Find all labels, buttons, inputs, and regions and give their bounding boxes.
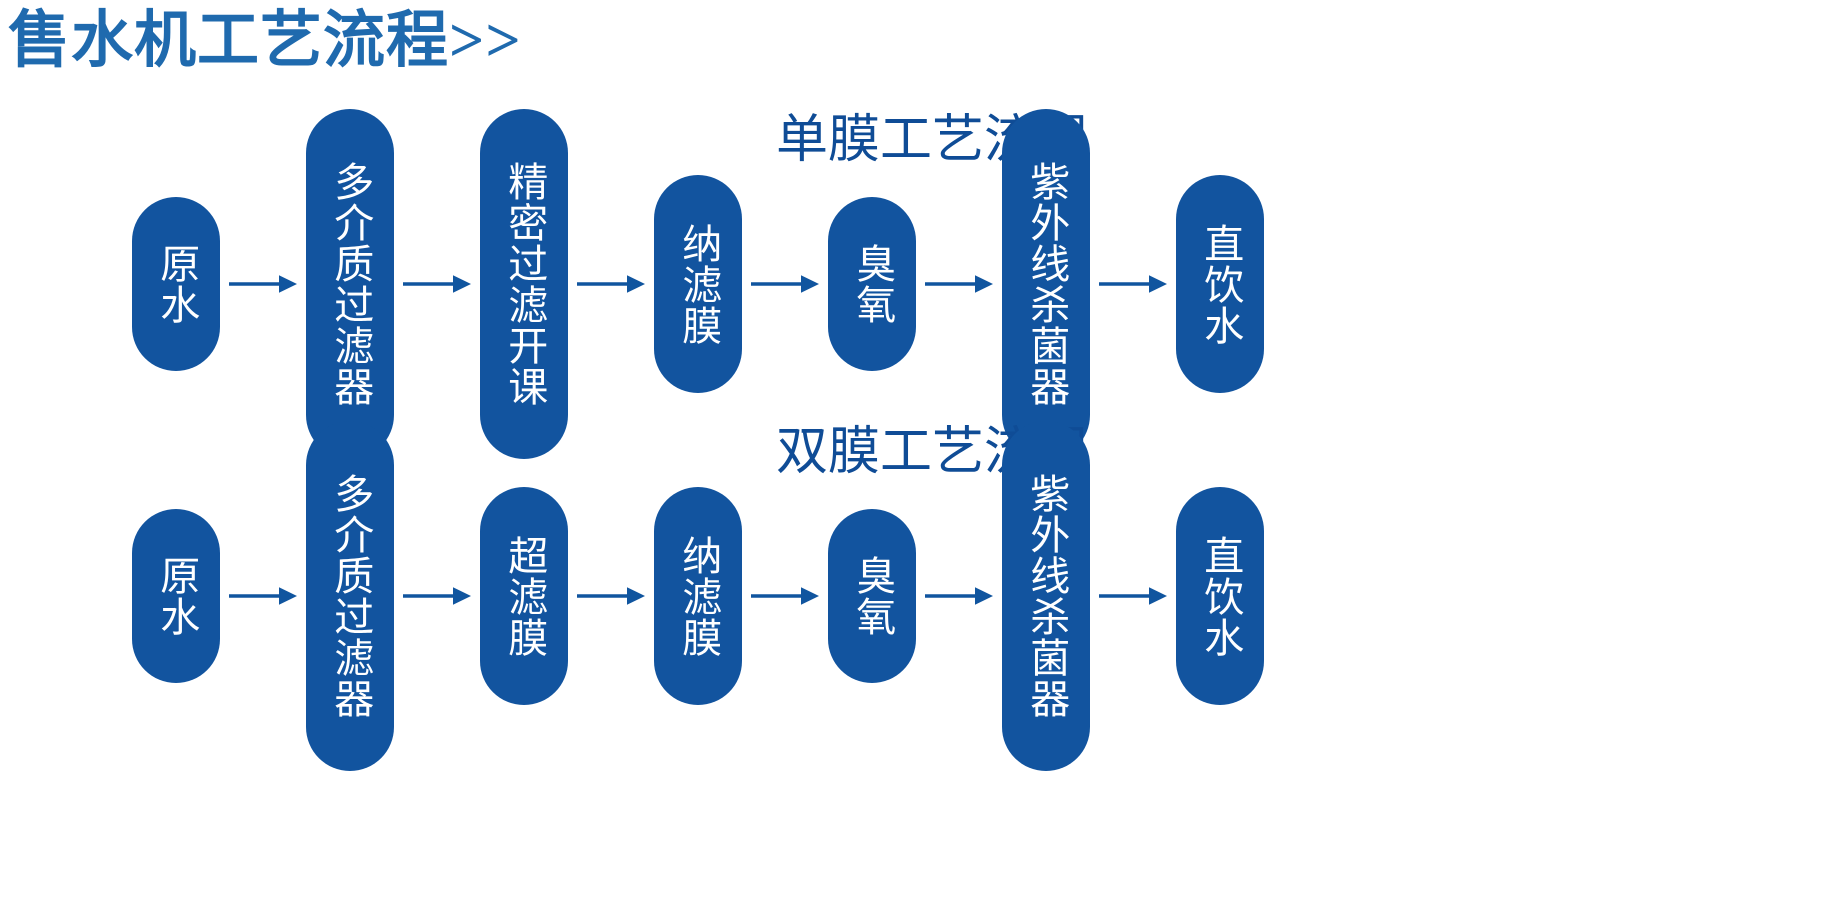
process-step-pill[interactable]: 多介质过滤器 (306, 421, 394, 771)
process-step-pill[interactable]: 紫外线杀菌器 (1002, 109, 1090, 459)
arrow-right-icon (751, 583, 819, 609)
section-heading-single-membrane: 单膜工艺流程 (0, 112, 1846, 169)
flow-row-single-membrane: 原水多介质过滤器精密过滤开课纳滤膜臭氧紫外线杀菌器直饮水 (0, 169, 1846, 399)
process-step-label: 紫外线杀菌器 (1025, 161, 1067, 407)
process-step-label: 原水 (155, 555, 197, 637)
flow-connector-arrow (394, 583, 480, 609)
process-step-label: 臭氧 (851, 243, 893, 325)
process-step-pill[interactable]: 纳滤膜 (654, 175, 742, 393)
process-step-pill[interactable]: 直饮水 (1176, 175, 1264, 393)
process-step-label: 多介质过滤器 (329, 473, 371, 719)
arrow-right-icon (403, 583, 471, 609)
flow-connector-arrow (916, 271, 1002, 297)
process-step-label: 超滤膜 (503, 535, 545, 658)
process-step-pill[interactable]: 精密过滤开课 (480, 109, 568, 459)
flow-connector-arrow (568, 271, 654, 297)
process-step-label: 原水 (155, 243, 197, 325)
process-step-pill[interactable]: 原水 (132, 509, 220, 683)
process-step-label: 直饮水 (1199, 223, 1241, 346)
flow-row-double-membrane: 原水多介质过滤器超滤膜纳滤膜臭氧紫外线杀菌器直饮水 (0, 481, 1846, 711)
process-step-pill[interactable]: 紫外线杀菌器 (1002, 421, 1090, 771)
section-single-membrane: 单膜工艺流程 原水多介质过滤器精密过滤开课纳滤膜臭氧紫外线杀菌器直饮水 (0, 112, 1846, 399)
process-step-label: 纳滤膜 (677, 223, 719, 346)
arrow-right-icon (1099, 271, 1167, 297)
arrow-right-icon (925, 271, 993, 297)
flow-connector-arrow (1090, 271, 1176, 297)
process-step-pill[interactable]: 原水 (132, 197, 220, 371)
flow-connector-arrow (220, 271, 306, 297)
flow-connector-arrow (742, 271, 828, 297)
process-step-pill[interactable]: 纳滤膜 (654, 487, 742, 705)
arrow-right-icon (751, 271, 819, 297)
page-title: 售水机工艺流程>> (8, 10, 522, 72)
process-step-pill[interactable]: 臭氧 (828, 509, 916, 683)
process-step-pill[interactable]: 臭氧 (828, 197, 916, 371)
flow-connector-arrow (394, 271, 480, 297)
arrow-right-icon (1099, 583, 1167, 609)
arrow-right-icon (403, 271, 471, 297)
flow-connector-arrow (742, 583, 828, 609)
arrow-right-icon (577, 271, 645, 297)
arrow-right-icon (229, 583, 297, 609)
process-step-pill[interactable]: 多介质过滤器 (306, 109, 394, 459)
process-step-label: 纳滤膜 (677, 535, 719, 658)
flow-connector-arrow (220, 583, 306, 609)
process-step-label: 精密过滤开课 (503, 161, 545, 407)
process-step-pill[interactable]: 直饮水 (1176, 487, 1264, 705)
arrow-right-icon (577, 583, 645, 609)
flow-connector-arrow (1090, 583, 1176, 609)
process-step-label: 臭氧 (851, 555, 893, 637)
process-step-pill[interactable]: 超滤膜 (480, 487, 568, 705)
flow-connector-arrow (568, 583, 654, 609)
flow-connector-arrow (916, 583, 1002, 609)
section-double-membrane: 双膜工艺流程 原水多介质过滤器超滤膜纳滤膜臭氧紫外线杀菌器直饮水 (0, 424, 1846, 711)
process-step-label: 多介质过滤器 (329, 161, 371, 407)
section-heading-double-membrane: 双膜工艺流程 (0, 424, 1846, 481)
process-step-label: 直饮水 (1199, 535, 1241, 658)
arrow-right-icon (229, 271, 297, 297)
process-step-label: 紫外线杀菌器 (1025, 473, 1067, 719)
arrow-right-icon (925, 583, 993, 609)
